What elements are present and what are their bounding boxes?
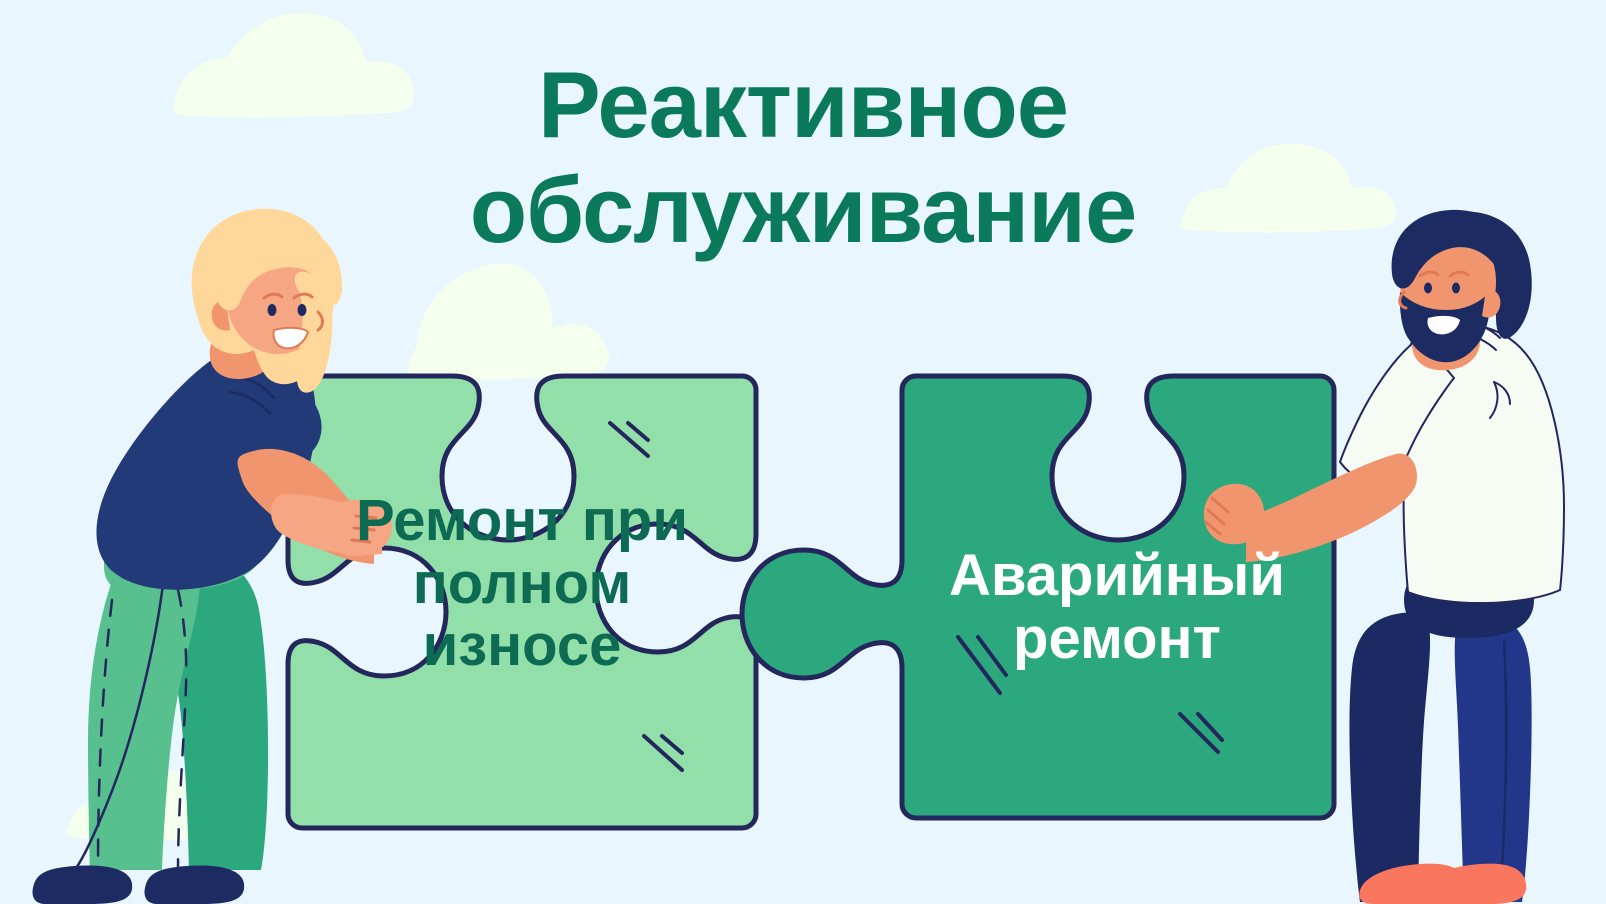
- man-back-leg: [1349, 612, 1430, 902]
- illustration-layer: [0, 0, 1606, 904]
- woman-shoe-back: [145, 866, 245, 904]
- puzzle-left-label: Ремонт при полном износе: [352, 490, 692, 678]
- puzzle-right-label: Аварийный ремонт: [902, 545, 1332, 670]
- slide-canvas: Реактивное обслуживание Ремонт при полно…: [0, 0, 1606, 904]
- man-front-leg: [1455, 612, 1532, 902]
- woman-shoe-front: [33, 866, 133, 904]
